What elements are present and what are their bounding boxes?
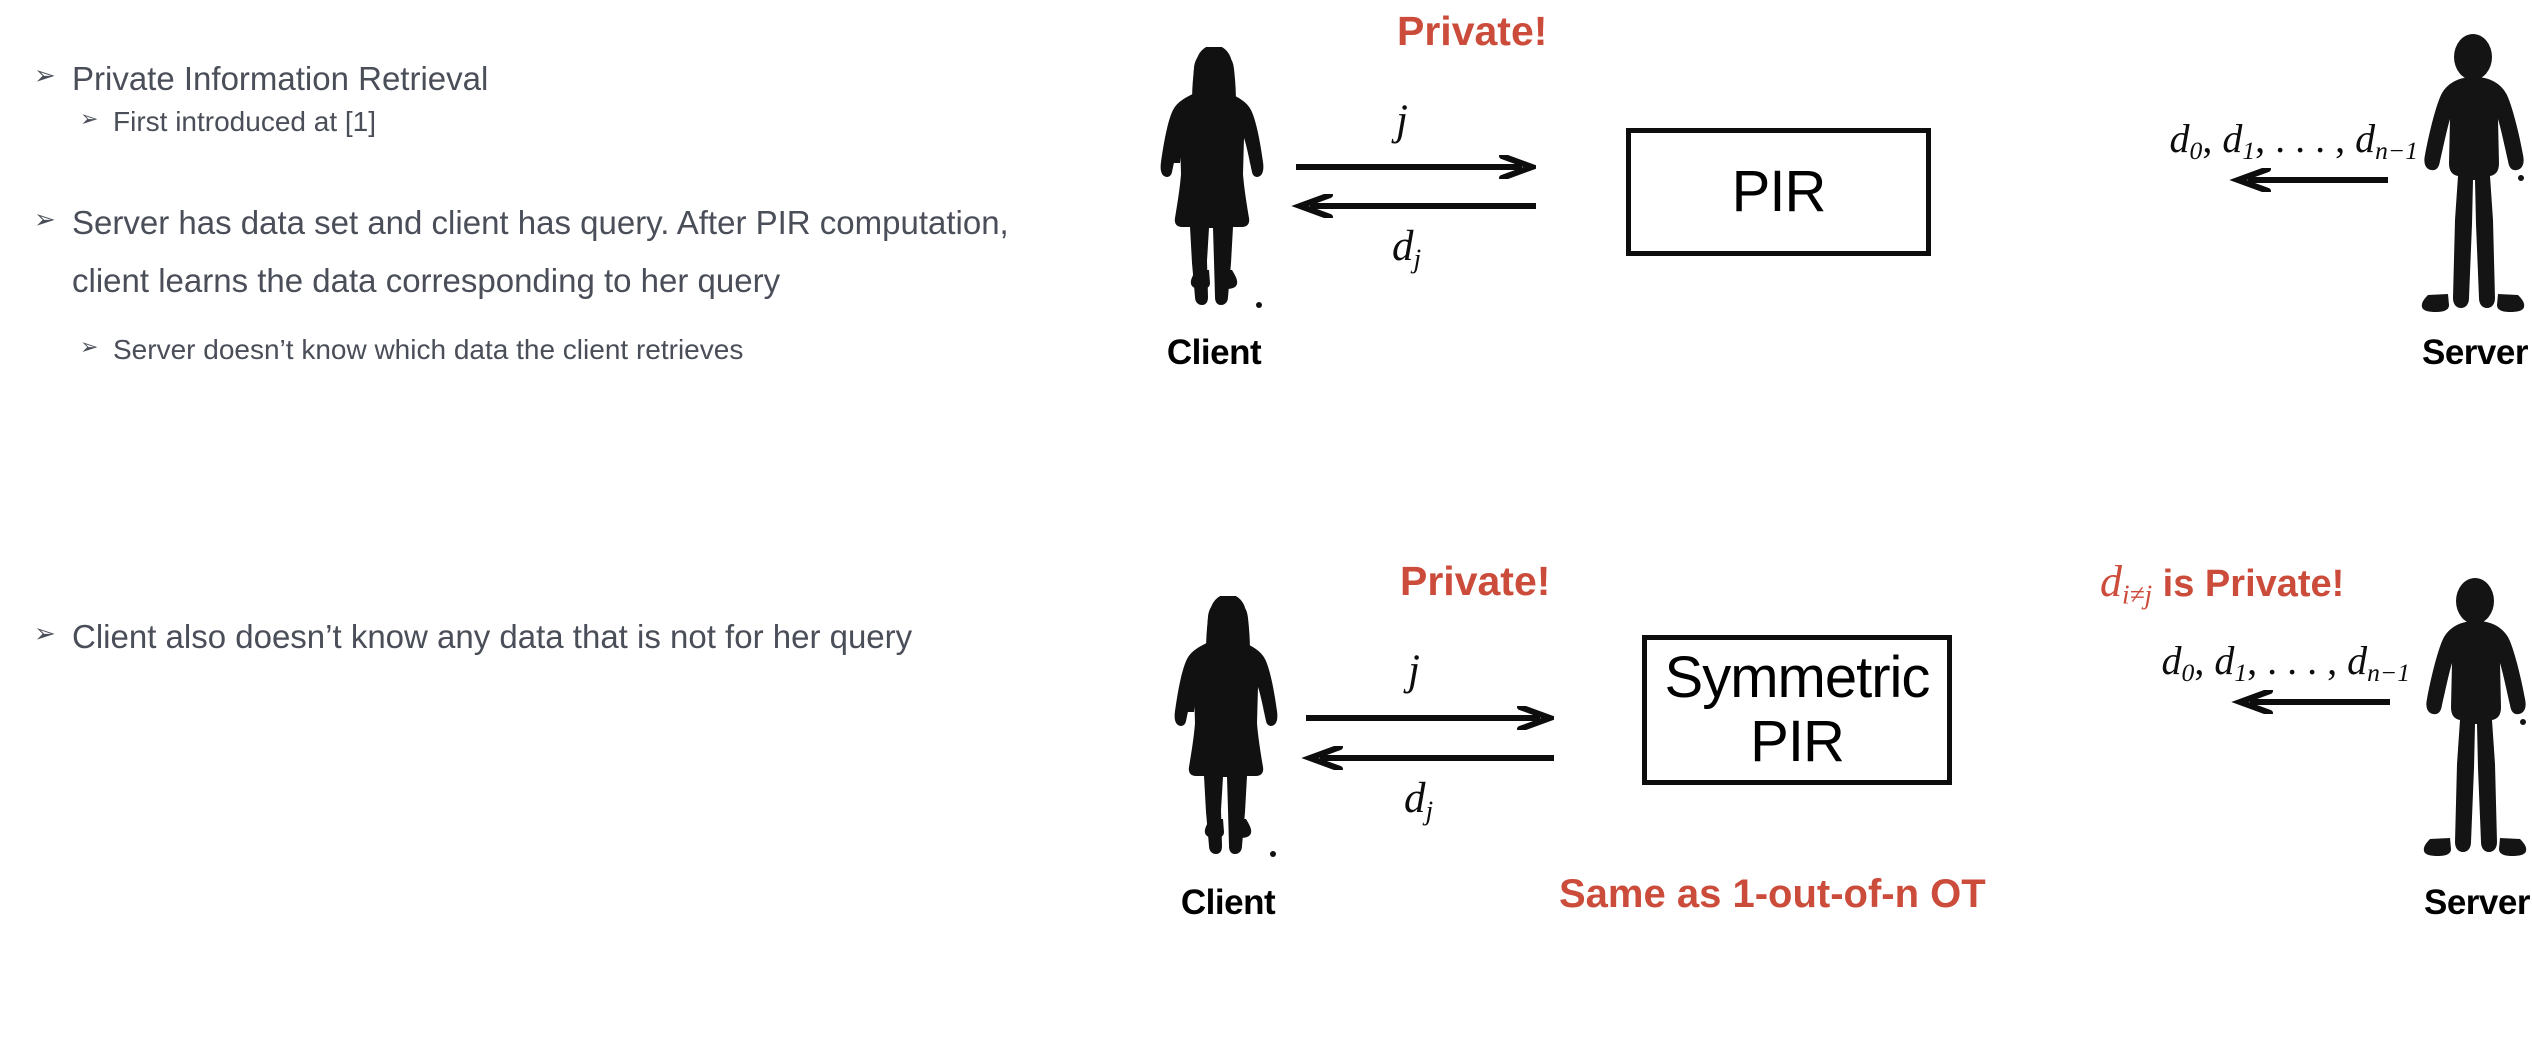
server-label-bottom: Server xyxy=(2402,883,2532,923)
bullet-item-1-text: First introduced at [1] xyxy=(113,97,1080,147)
bullet-item-3: ➢ Server doesn’t know which data the cli… xyxy=(80,325,1080,375)
arrowhead-bullet-icon: ➢ xyxy=(34,608,72,647)
bullet-item-4: ➢ Client also doesn’t know any data that… xyxy=(34,608,1094,666)
dataset-arrow-top xyxy=(2228,168,2388,192)
query-arrow-top xyxy=(1296,155,1536,179)
client-figure-icon xyxy=(1158,47,1270,312)
dataset-arrow-bottom xyxy=(2230,690,2390,714)
client-label-top: Client xyxy=(1144,333,1284,373)
dataset-label-top: d0, d1, . . . , dn−1 xyxy=(2170,115,2418,166)
spir-private-data-annotation: di≠j is Private! xyxy=(2100,556,2344,611)
server-figure-icon xyxy=(2420,577,2530,857)
dataset-label-bottom: d0, d1, . . . , dn−1 xyxy=(2162,637,2410,688)
pir-private-annotation: Private! xyxy=(1397,8,1547,55)
symmetric-pir-box: SymmetricPIR xyxy=(1642,635,1952,785)
spir-private-annotation: Private! xyxy=(1400,558,1550,605)
response-arrow-top xyxy=(1290,194,1536,218)
response-label-bottom: dj xyxy=(1404,774,1433,827)
server-figure-icon xyxy=(2418,33,2528,313)
bullet-item-2-text: Server has data set and client has query… xyxy=(72,194,1084,310)
query-label-top: j xyxy=(1396,96,1408,145)
query-arrow-bottom xyxy=(1306,706,1554,730)
response-arrow-bottom xyxy=(1300,746,1554,770)
arrowhead-bullet-icon: ➢ xyxy=(80,97,113,131)
query-label-bottom: j xyxy=(1408,646,1420,695)
bullet-item-1: ➢ First introduced at [1] xyxy=(80,97,1080,147)
response-label-top: dj xyxy=(1392,222,1421,275)
symmetric-pir-box-label: SymmetricPIR xyxy=(1665,646,1930,774)
server-label-top: Server xyxy=(2400,333,2532,373)
bullet-item-4-text: Client also doesn’t know any data that i… xyxy=(72,608,1094,666)
arrowhead-bullet-icon: ➢ xyxy=(34,194,72,233)
arrowhead-bullet-icon: ➢ xyxy=(80,325,113,359)
client-label-bottom: Client xyxy=(1158,883,1298,923)
arrowhead-bullet-icon: ➢ xyxy=(34,50,72,89)
spir-footer-note: Same as 1-out-of-n OT xyxy=(1559,872,1986,917)
bullet-item-2: ➢ Server has data set and client has que… xyxy=(34,194,1084,310)
pir-box: PIR xyxy=(1626,128,1931,256)
pir-diagram: Private! Client j xyxy=(1100,0,2532,420)
symmetric-pir-diagram: Private! di≠j is Private! Client j xyxy=(1100,540,2532,1020)
pir-box-label: PIR xyxy=(1732,160,1826,224)
bullet-item-3-text: Server doesn’t know which data the clien… xyxy=(113,325,1080,375)
client-figure-icon xyxy=(1172,596,1284,861)
bullet-list: ➢ Private Information Retrieval ➢ First … xyxy=(0,0,1120,1048)
